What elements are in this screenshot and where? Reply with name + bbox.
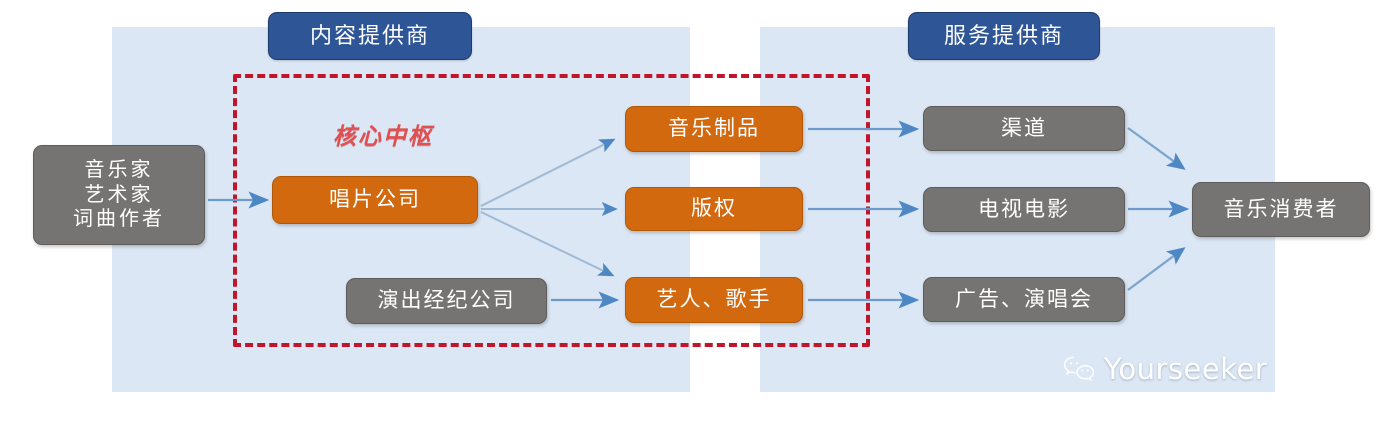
node-music-consumers-label: 音乐消费者 <box>1224 197 1339 223</box>
watermark-text: Yourseeker <box>1104 352 1267 386</box>
node-creators[interactable]: 音乐家 艺术家 词曲作者 <box>33 145 205 245</box>
node-music-products[interactable]: 音乐制品 <box>625 106 803 152</box>
node-record-company-label: 唱片公司 <box>329 187 421 213</box>
node-advertising-concerts[interactable]: 广告、演唱会 <box>923 277 1125 322</box>
core-hub-label: 核心中枢 <box>333 117 433 151</box>
diagram-canvas: 内容提供商 服务提供商 核心中枢 <box>0 0 1397 427</box>
watermark: Yourseeker <box>1063 352 1267 386</box>
node-tv-film[interactable]: 电视电影 <box>923 187 1125 232</box>
node-record-company[interactable]: 唱片公司 <box>272 176 478 224</box>
section-header-content-provider: 内容提供商 <box>268 12 472 60</box>
wechat-icon <box>1063 355 1095 383</box>
node-creators-line-3: 词曲作者 <box>73 207 165 231</box>
section-header-service-provider: 服务提供商 <box>908 12 1100 60</box>
node-channel-label: 渠道 <box>1001 116 1047 142</box>
node-performance-agency-label: 演出经纪公司 <box>378 288 516 314</box>
node-artists-singers[interactable]: 艺人、歌手 <box>625 277 803 323</box>
node-artists-singers-label: 艺人、歌手 <box>657 287 772 313</box>
node-creators-line-1: 音乐家 <box>85 158 154 182</box>
node-advertising-concerts-label: 广告、演唱会 <box>955 287 1093 313</box>
node-copyright[interactable]: 版权 <box>625 187 803 231</box>
node-creators-line-2: 艺术家 <box>85 183 154 207</box>
node-music-products-label: 音乐制品 <box>668 116 760 142</box>
node-tv-film-label: 电视电影 <box>978 197 1070 223</box>
node-copyright-label: 版权 <box>691 196 737 222</box>
node-channel[interactable]: 渠道 <box>923 106 1125 151</box>
node-music-consumers[interactable]: 音乐消费者 <box>1192 182 1370 237</box>
node-performance-agency[interactable]: 演出经纪公司 <box>346 278 547 324</box>
